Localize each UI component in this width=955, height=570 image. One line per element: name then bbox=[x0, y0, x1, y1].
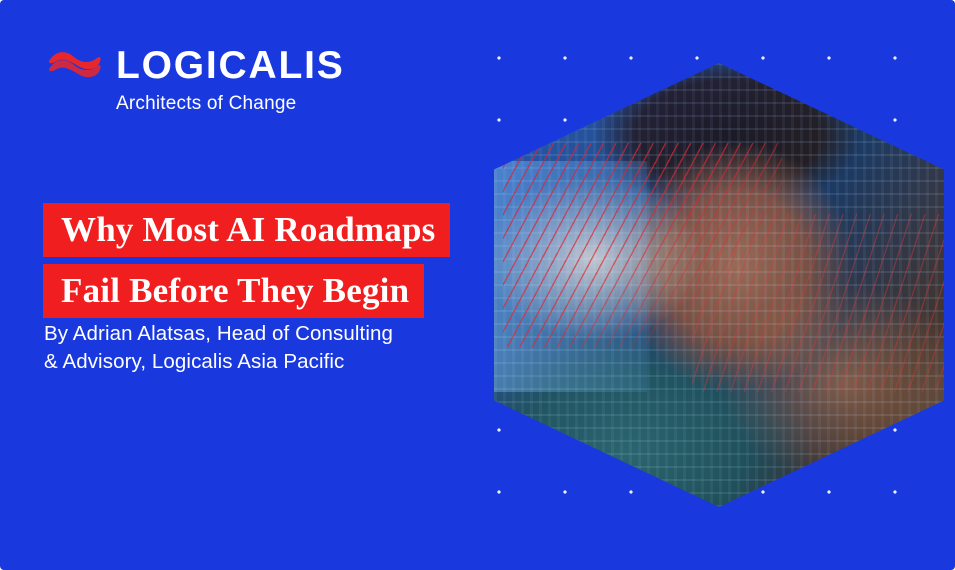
photo-blue-tint bbox=[494, 63, 944, 507]
brand-logo[interactable]: LOGICALIS Architects of Change bbox=[47, 46, 345, 113]
headline-line-1: Why Most AI Roadmaps bbox=[43, 203, 450, 257]
headline-line-2: Fail Before They Begin bbox=[43, 264, 424, 318]
hexagon-photo bbox=[494, 63, 944, 507]
byline: By Adrian Alatsas, Head of Consulting & … bbox=[44, 320, 393, 375]
logo-row: LOGICALIS bbox=[47, 46, 345, 85]
logo-wordmark: LOGICALIS bbox=[116, 46, 345, 85]
promo-banner: LOGICALIS Architects of Change Why Most … bbox=[0, 0, 955, 570]
byline-line-2: & Advisory, Logicalis Asia Pacific bbox=[44, 348, 393, 376]
logicalis-wave-icon bbox=[47, 49, 102, 82]
headline: Why Most AI Roadmaps Fail Before They Be… bbox=[43, 203, 450, 318]
byline-line-1: By Adrian Alatsas, Head of Consulting bbox=[44, 320, 393, 348]
logo-tagline: Architects of Change bbox=[116, 94, 345, 113]
